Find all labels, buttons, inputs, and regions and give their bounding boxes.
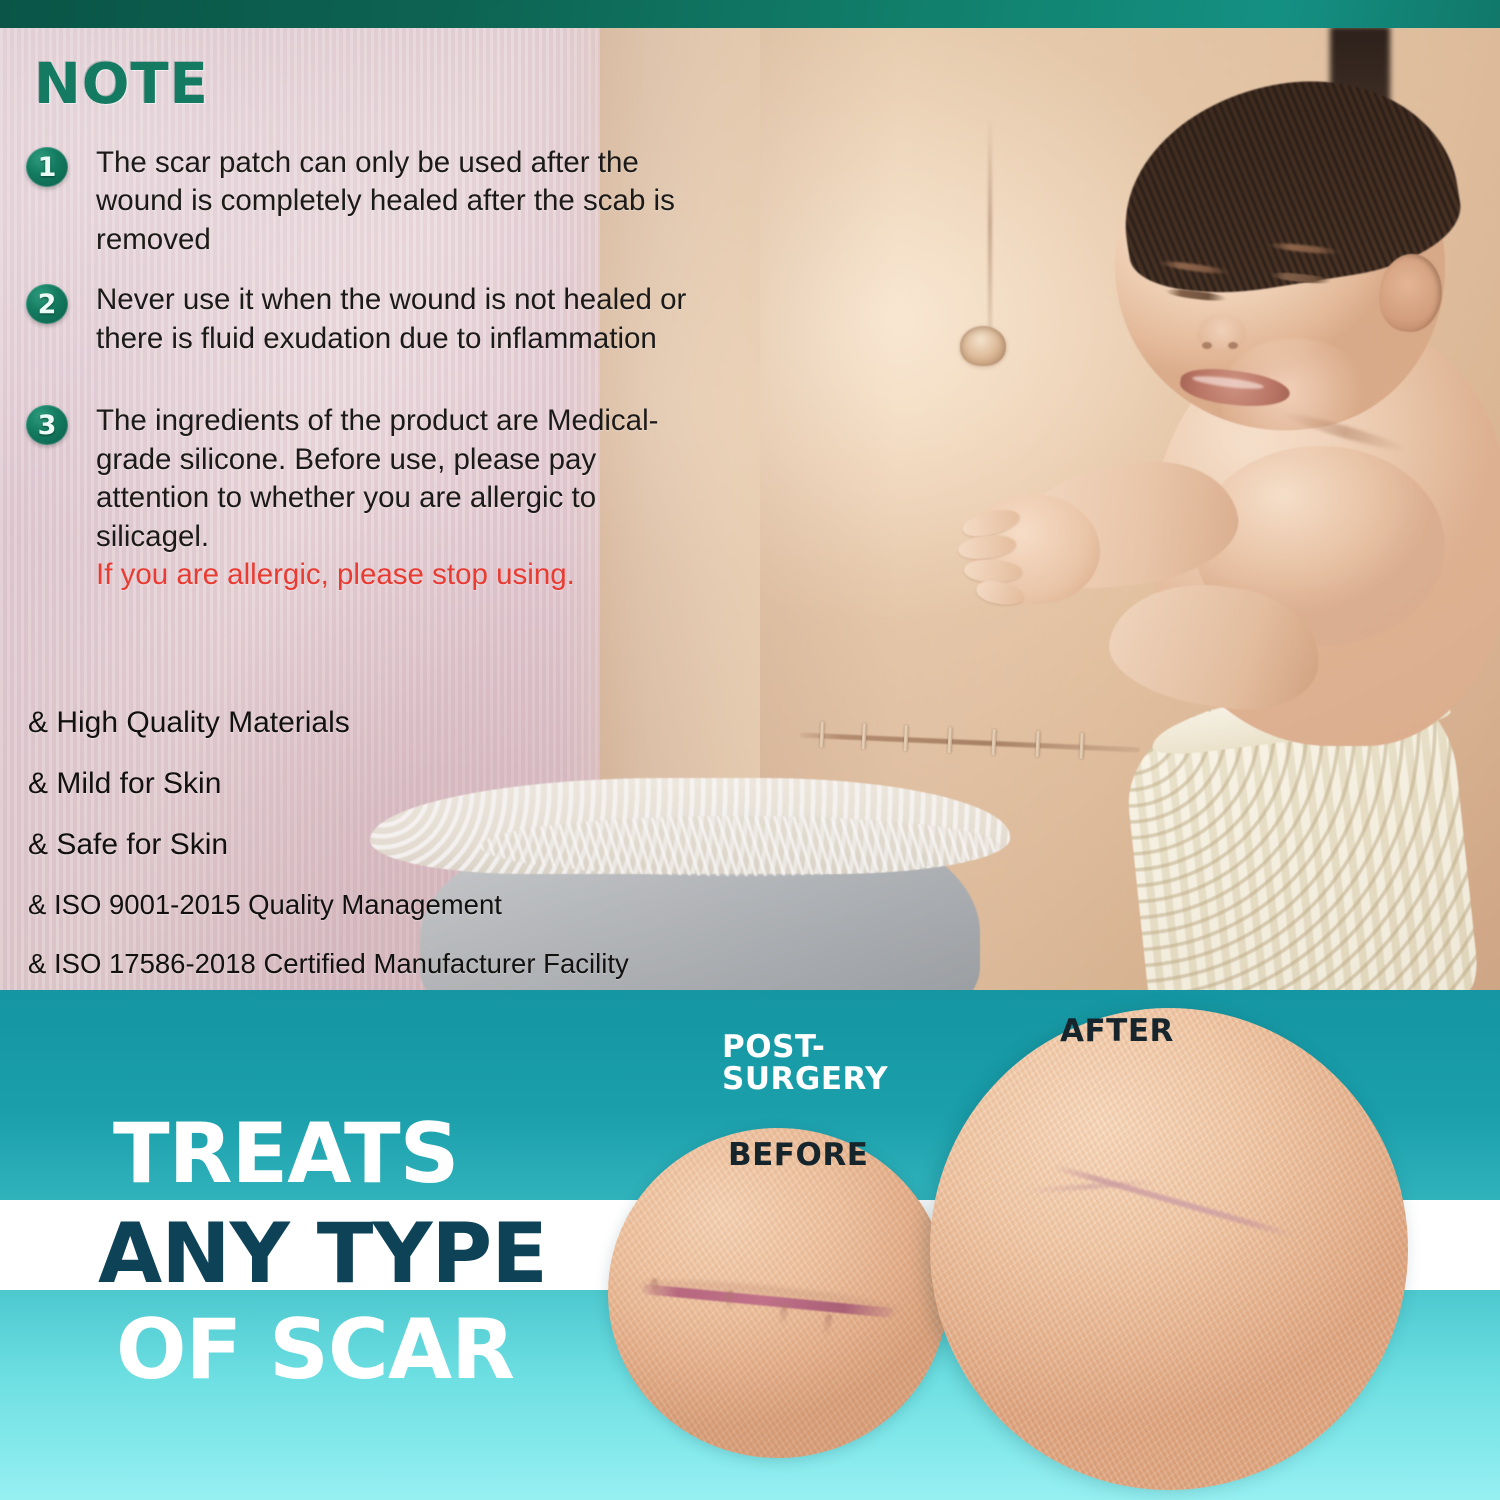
post-surgery-label: POST-SURGERY <box>722 1032 888 1095</box>
lace-texture <box>480 816 1000 876</box>
mother-and-newborn-photo <box>0 26 1500 992</box>
headline-line-1: TREATS <box>113 1112 458 1195</box>
before-suture-mark <box>725 1290 734 1312</box>
headline-line-2: ANY TYPE <box>98 1212 547 1295</box>
top-accent-bar <box>0 0 1500 28</box>
before-label: BEFORE <box>728 1140 868 1172</box>
after-scar-photo <box>930 1008 1408 1490</box>
headline-line-3: OF SCAR <box>116 1308 514 1391</box>
surgical-staple <box>862 723 867 749</box>
baby-nostril <box>1228 342 1238 349</box>
surgical-staple <box>947 727 952 753</box>
newborn-baby <box>980 26 1500 786</box>
after-scar-line <box>1052 1164 1294 1239</box>
underwear <box>330 756 1030 992</box>
before-suture-mark <box>779 1304 788 1327</box>
baby-nostril <box>1202 342 1212 349</box>
surgical-staple <box>820 721 825 747</box>
surgical-staple <box>903 725 908 751</box>
product-infographic: NOTE 1 The scar patch can only be used a… <box>0 0 1500 1500</box>
before-scar-photo <box>608 1128 948 1458</box>
after-label: AFTER <box>1060 1016 1174 1048</box>
before-suture-mark <box>822 1314 833 1337</box>
